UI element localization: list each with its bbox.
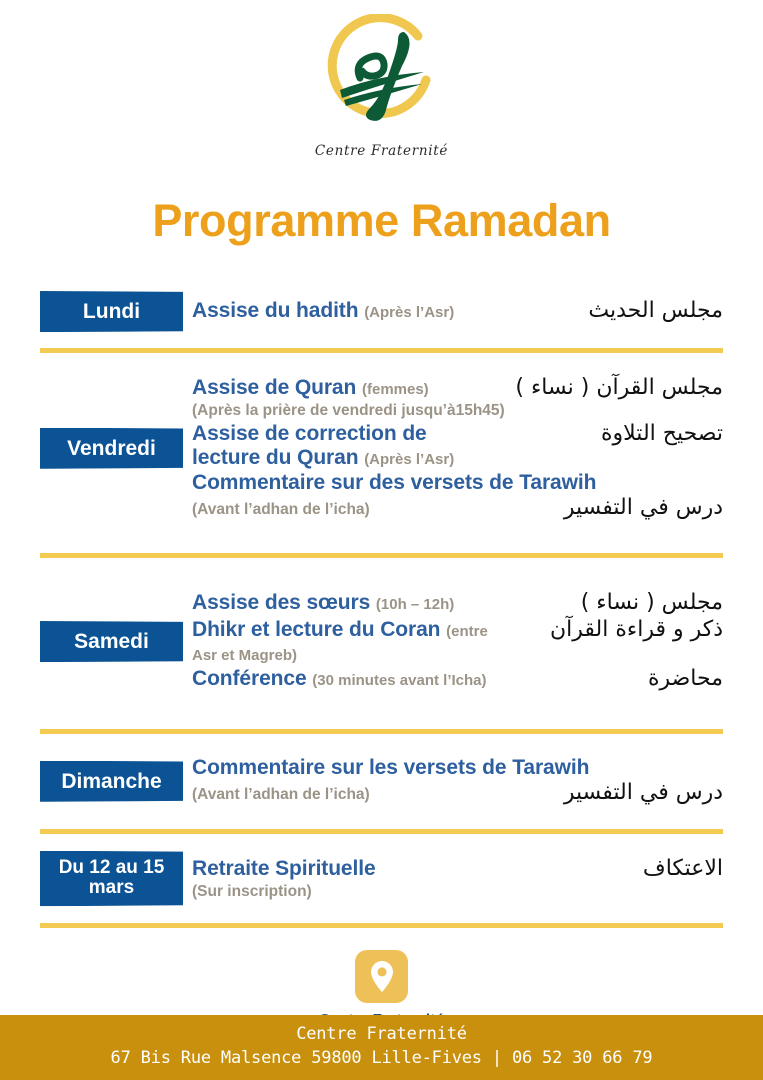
entry-note: (30 minutes avant l’Icha) [312,672,486,689]
entry-arabic: درس في التفسير [508,495,723,521]
entry-subnote: (Avant l’adhan de l’icha) [192,785,500,804]
day-badge-cell: Lundi [40,291,192,332]
entry-title: Assise de Quran (femmes) [192,376,500,400]
schedule-row-retraite: Du 12 au 15 mars Retraite Spirituelle ال… [40,850,723,908]
day-badge-retraite[interactable]: Du 12 au 15 mars [40,851,183,907]
schedule-entry: Assise des sœurs (10h – 12h) مجلس ( نساء… [192,590,723,616]
entry-arabic: درس في التفسير [508,780,723,806]
entry-note: (Après l’Asr) [364,451,454,468]
entry-note: (10h – 12h) [376,596,454,613]
logo-header: Centre Fraternité [0,0,763,178]
entry-title-text: Commentaire sur des versets de Tarawih [192,471,596,494]
logo-caption: Centre Fraternité [315,143,448,159]
entry-title-text: Assise du hadith [192,299,358,322]
day-badge-cell: Du 12 au 15 mars [40,851,192,907]
section-divider [40,923,723,928]
day-badge-cell: Dimanche [40,761,192,802]
footer-line-1: Centre Fraternité [0,1022,763,1047]
entry-title-text: Assise des sœurs [192,591,370,614]
schedule-row-vendredi: Vendredi Assise de Quran (femmes) مجلس ا… [40,369,723,527]
entry-title-text: Commentaire sur les versets de Tarawih [192,756,589,779]
entry-title-text: Assise de Quran [192,376,356,399]
day-badge-vendredi[interactable]: Vendredi [40,428,183,469]
entry-title-text: Conférence [192,667,307,690]
entry-title-text: Dhikr et lecture du Coran [192,618,440,641]
schedule-entry: Assise de Quran (femmes) مجلس القرآن ( ن… [192,375,723,421]
entry-title: Conférence (30 minutes avant l’Icha) [192,667,500,691]
footer-line-2: 67 Bis Rue Malsence 59800 Lille-Fives | … [0,1046,763,1071]
day-badge-lundi[interactable]: Lundi [40,291,183,332]
entries-retraite: Retraite Spirituelle الاعتكاف (Sur inscr… [192,850,723,908]
entry-title: Assise de correction de lecture du Quran… [192,422,500,471]
day-badge-samedi[interactable]: Samedi [40,621,183,662]
entry-title: Dhikr et lecture du Coran (entre Asr et … [192,618,500,667]
day-badge-dimanche[interactable]: Dimanche [40,761,183,802]
schedule-entry: Retraite Spirituelle الاعتكاف (Sur inscr… [192,856,723,902]
entry-arabic: محاضرة [508,666,723,692]
entry-arabic: الاعتكاف [508,856,723,882]
schedule-row-dimanche: Dimanche Commentaire sur les versets de … [40,750,723,813]
schedule-entry: Commentaire sur des versets de Tarawih (… [192,471,723,522]
entries-vendredi: Assise de Quran (femmes) مجلس القرآن ( ن… [192,369,723,527]
entry-title: Assise des sœurs (10h – 12h) [192,591,500,615]
entry-arabic: مجلس الحديث [508,298,723,324]
entry-title-text: Retraite Spirituelle [192,857,376,880]
centre-fraternite-logo-icon [316,14,448,134]
entry-arabic: مجلس ( نساء ) [508,590,723,616]
entry-title: Commentaire sur des versets de Tarawih [192,471,723,495]
schedule-row-lundi: Lundi Assise du hadith (Après l’Asr) مجل… [40,291,723,332]
entry-arabic: مجلس القرآن ( نساء ) [508,375,723,401]
entry-subnote: (Sur inscription) [192,882,723,901]
map-pin-icon[interactable] [355,950,408,1003]
entry-arabic: ذكر و قراءة القرآن [508,617,723,643]
entry-subnote: (Avant l’adhan de l’icha) [192,500,500,519]
entry-title: Assise du hadith (Après l’Asr) [192,299,500,323]
entry-title: Retraite Spirituelle [192,857,500,881]
schedule-table: Lundi Assise du hadith (Après l’Asr) مجل… [0,291,763,928]
footer-bar: Centre Fraternité 67 Bis Rue Malsence 59… [0,1015,763,1080]
schedule-entry: Assise du hadith (Après l’Asr) مجلس الحد… [192,298,723,324]
schedule-entry: Conférence (30 minutes avant l’Icha) محا… [192,666,723,692]
entry-arabic: تصحيح التلاوة [508,421,723,447]
schedule-row-samedi: Samedi Assise des sœurs (10h – 12h) مجلس… [40,584,723,699]
page-title: Programme Ramadan [0,198,763,243]
entry-note: (femmes) [362,381,429,398]
entries-lundi: Assise du hadith (Après l’Asr) مجلس الحد… [192,292,723,330]
entries-samedi: Assise des sœurs (10h – 12h) مجلس ( نساء… [192,584,723,699]
schedule-entry: Dhikr et lecture du Coran (entre Asr et … [192,617,723,667]
schedule-entry: Assise de correction de lecture du Quran… [192,421,723,471]
entry-note: (Après l’Asr) [364,304,454,321]
day-badge-cell: Samedi [40,621,192,662]
entries-dimanche: Commentaire sur les versets de Tarawih (… [192,750,723,813]
day-badge-cell: Vendredi [40,428,192,469]
entry-subnote: (Après la prière de vendredi jusqu’à15h4… [192,401,723,420]
schedule-entry: Commentaire sur les versets de Tarawih (… [192,756,723,807]
entry-title: Commentaire sur les versets de Tarawih [192,756,723,780]
